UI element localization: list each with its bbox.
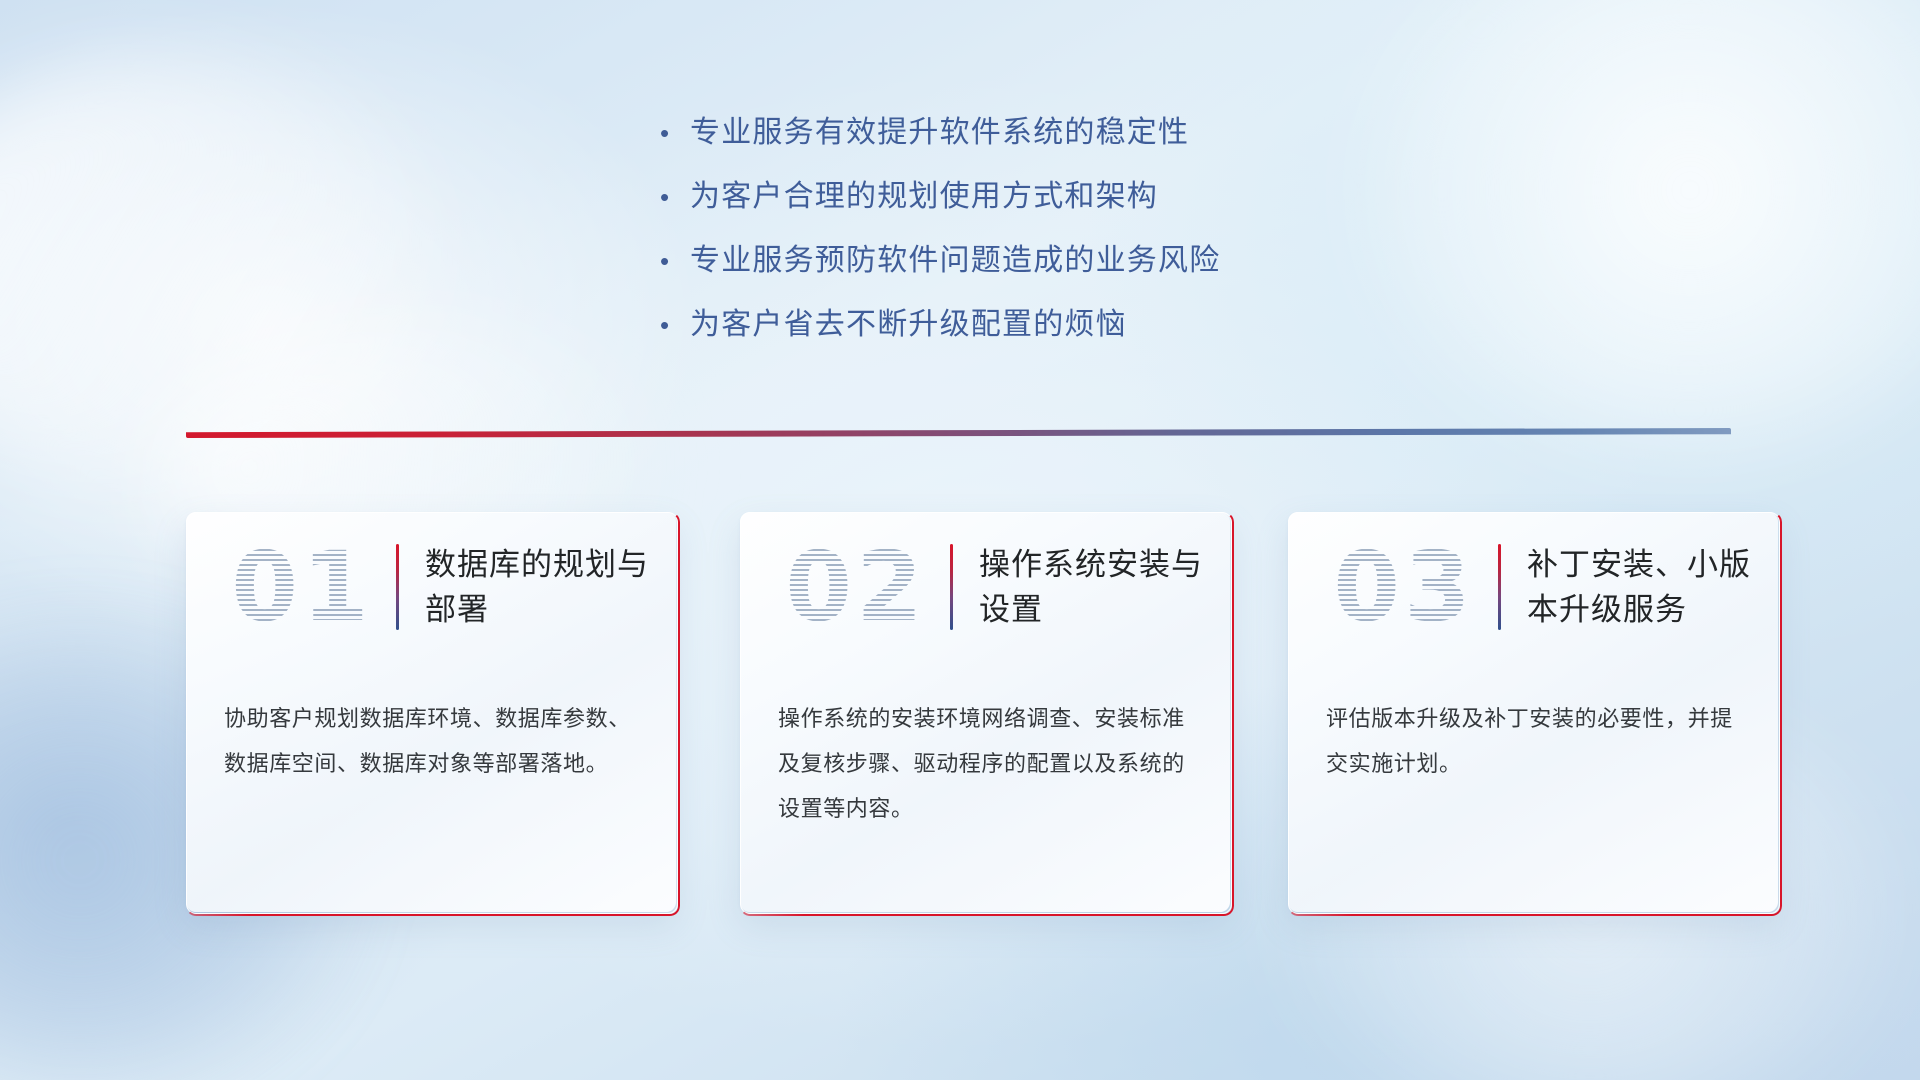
card-number-badge: 01: [212, 539, 392, 635]
card-title: 数据库的规划与部署: [425, 542, 675, 632]
card-header: 02 操作系统安装与设置: [740, 512, 1230, 662]
background-glow-top-left: [0, 60, 440, 490]
card-number-badge: 02: [766, 539, 946, 635]
bullet-dot-icon: •: [660, 176, 690, 218]
bullet-dot-icon: •: [660, 240, 690, 282]
feature-card[interactable]: 02 操作系统安装与设置 操作系统的安装环境网络调查、安装标准及复核步骤、驱动程…: [740, 512, 1230, 912]
bullet-dot-icon: •: [660, 112, 690, 154]
background-glow-top-right: [1370, 0, 1920, 450]
bullet-dot-icon: •: [660, 304, 690, 346]
card-body-text: 操作系统的安装环境网络调查、安装标准及复核步骤、驱动程序的配置以及系统的设置等内…: [740, 662, 1230, 831]
bullet-item-label: 专业服务预防软件问题造成的业务风险: [690, 240, 1220, 282]
card-divider-icon: [396, 544, 399, 630]
feature-card[interactable]: 03 补丁安装、小版本升级服务 评估版本升级及补丁安装的必要性，并提交实施计划。: [1288, 512, 1778, 912]
card-header: 01 数据库的规划与部署: [186, 512, 676, 662]
feature-card[interactable]: 01 数据库的规划与部署 协助客户规划数据库环境、数据库参数、数据库空间、数据库…: [186, 512, 676, 912]
card-header: 03 补丁安装、小版本升级服务: [1288, 512, 1778, 662]
bullet-item-label: 为客户合理的规划使用方式和架构: [690, 176, 1158, 218]
card-divider-icon: [950, 544, 953, 630]
bullet-item-label: 专业服务有效提升软件系统的稳定性: [690, 112, 1189, 154]
bullet-item: • 为客户合理的规划使用方式和架构: [660, 176, 1420, 218]
divider-gradient-bar: [186, 428, 1731, 438]
bullet-item: • 为客户省去不断升级配置的烦恼: [660, 304, 1420, 346]
card-title: 补丁安装、小版本升级服务: [1527, 542, 1777, 632]
bullet-list: • 专业服务有效提升软件系统的稳定性 • 为客户合理的规划使用方式和架构 • 专…: [660, 112, 1420, 368]
bullet-item: • 专业服务预防软件问题造成的业务风险: [660, 240, 1420, 282]
card-body-text: 评估版本升级及补丁安装的必要性，并提交实施计划。: [1288, 662, 1778, 786]
bullet-item: • 专业服务有效提升软件系统的稳定性: [660, 112, 1420, 154]
card-title: 操作系统安装与设置: [979, 542, 1229, 632]
bullet-item-label: 为客户省去不断升级配置的烦恼: [690, 304, 1127, 346]
card-number-badge: 03: [1314, 539, 1494, 635]
card-divider-icon: [1498, 544, 1501, 630]
slide-canvas: • 专业服务有效提升软件系统的稳定性 • 为客户合理的规划使用方式和架构 • 专…: [0, 0, 1920, 1080]
card-body-text: 协助客户规划数据库环境、数据库参数、数据库空间、数据库对象等部署落地。: [186, 662, 676, 786]
section-divider: [186, 428, 1731, 438]
